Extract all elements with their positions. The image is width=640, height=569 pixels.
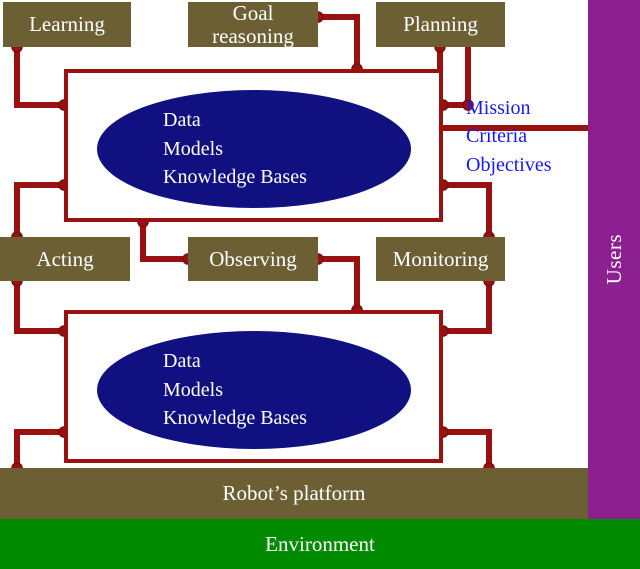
environment-bar[interactable]: Environment: [0, 519, 640, 569]
lower-knowledge-ellipse: Data Models Knowledge Bases: [97, 331, 411, 449]
node-planning[interactable]: Planning: [376, 2, 505, 47]
mission-line-1: Mission: [466, 94, 552, 122]
lower-knowledge-frame: Data Models Knowledge Bases: [64, 310, 443, 463]
upper-kb-line-3: Knowledge Bases: [163, 163, 411, 191]
node-monitoring-label: Monitoring: [393, 248, 489, 270]
robot-platform-label: Robot’s platform: [223, 481, 366, 506]
node-observing-label: Observing: [209, 248, 297, 270]
node-learning[interactable]: Learning: [3, 2, 131, 47]
mission-line-3: Objectives: [466, 151, 552, 179]
robot-platform-bar[interactable]: Robot’s platform: [0, 468, 588, 519]
users-bar[interactable]: Users: [588, 0, 640, 519]
node-planning-label: Planning: [403, 13, 478, 35]
mission-line-2: Criteria: [466, 122, 552, 150]
node-observing[interactable]: Observing: [188, 237, 318, 281]
mission-criteria-objectives-label: Mission Criteria Objectives: [466, 94, 552, 179]
upper-kb-line-2: Models: [163, 135, 411, 163]
node-goal-reasoning[interactable]: Goal reasoning: [188, 2, 318, 47]
upper-knowledge-frame: Data Models Knowledge Bases: [64, 69, 443, 222]
node-monitoring[interactable]: Monitoring: [376, 237, 505, 281]
node-goal-reasoning-label-2: reasoning: [212, 25, 294, 47]
lower-kb-line-1: Data: [163, 347, 411, 375]
environment-label: Environment: [265, 532, 375, 557]
upper-kb-line-1: Data: [163, 106, 411, 134]
node-acting-label: Acting: [36, 248, 93, 270]
node-goal-reasoning-label-1: Goal: [233, 2, 274, 24]
node-acting[interactable]: Acting: [0, 237, 130, 281]
architecture-diagram: Data Models Knowledge Bases Data Models …: [0, 0, 640, 569]
upper-knowledge-ellipse: Data Models Knowledge Bases: [97, 90, 411, 208]
node-learning-label: Learning: [29, 13, 105, 35]
lower-kb-line-2: Models: [163, 376, 411, 404]
users-label: Users: [602, 234, 627, 284]
lower-kb-line-3: Knowledge Bases: [163, 404, 411, 432]
